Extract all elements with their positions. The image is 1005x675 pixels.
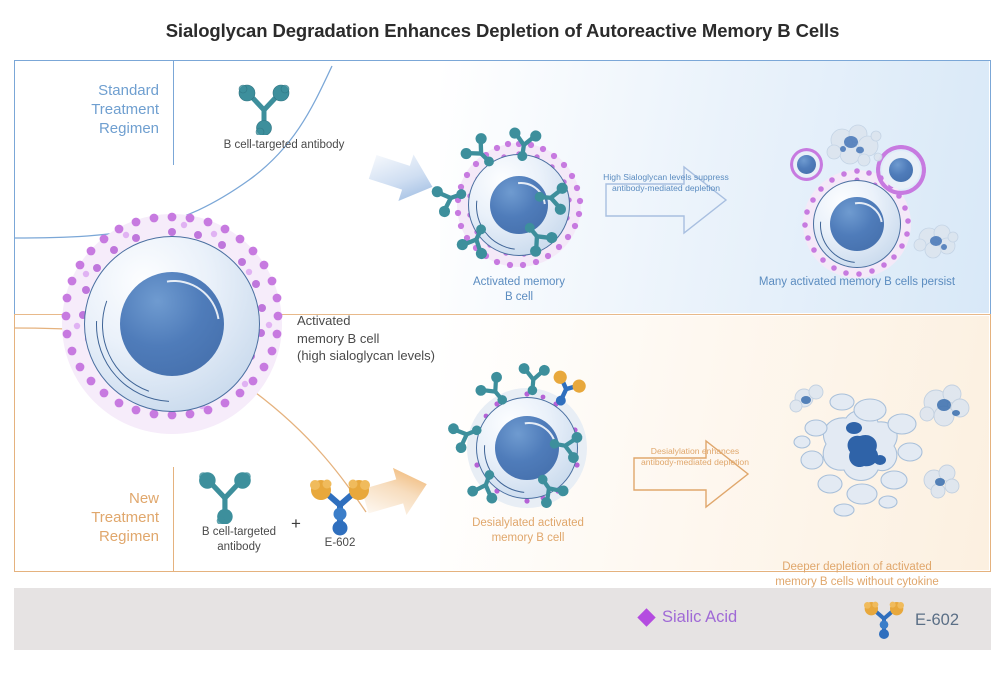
diagram-frame: Standard Treatment Regimen New Treatment… — [14, 60, 991, 572]
new-cell-caption-line2: memory B cell — [446, 531, 610, 546]
desialylated-memory-b-cell — [464, 385, 590, 511]
standard-cell-caption: Activated memory B cell — [439, 275, 599, 304]
legend-item-e602: E-602 — [862, 600, 959, 640]
standard-regimen-label: Standard Treatment Regimen — [14, 82, 159, 139]
new-cell-caption: Desialylated activated memory B cell — [446, 516, 610, 545]
plus-sign: + — [291, 514, 301, 534]
new-outcome-caption-line1: Deeper depletion of activated — [726, 560, 988, 575]
new-regimen-label: New Treatment Regimen — [14, 490, 159, 547]
new-arrow-caption: Desialylation enhances antibody-mediated… — [629, 446, 761, 469]
e-602-legend-icon — [862, 600, 906, 640]
legend-footer: Sialic Acid E-602 — [14, 588, 991, 650]
new-regimen-column-divider — [173, 467, 174, 571]
standard-arrow-caption-line1: High Sialoglycan levels suppress — [602, 172, 730, 183]
e-602-icon-bottom — [307, 478, 373, 536]
standard-cell-caption-line2: B cell — [439, 290, 599, 305]
legend-sialic-acid-label: Sialic Acid — [662, 608, 737, 627]
new-regimen-line1: New — [14, 490, 159, 509]
standard-regimen-line1: Standard — [14, 82, 159, 101]
new-regimen-line3: Regimen — [14, 528, 159, 547]
new-treatment-antibody-line2: antibody — [180, 540, 298, 555]
new-arrow-caption-line2: antibody-mediated depletion — [629, 457, 761, 468]
b-cell-targeted-antibody-icon-bottom — [196, 470, 258, 524]
standard-arrow-caption: High Sialoglycan levels suppress antibod… — [602, 172, 730, 195]
central-activated-memory-b-cell — [56, 208, 288, 440]
central-cell-caption-line3: (high sialoglycan levels) — [297, 347, 487, 365]
standard-outcome-caption: Many activated memory B cells persist — [726, 275, 988, 290]
new-cell-caption-line1: Desialylated activated — [446, 516, 610, 531]
new-arrow-caption-line1: Desialylation enhances — [629, 446, 761, 457]
new-treatment-antibody-label: B cell-targeted antibody — [180, 525, 298, 554]
persisting-b-cell-small-left — [790, 148, 823, 181]
legend-item-sialic-acid: Sialic Acid — [640, 608, 737, 627]
b-cell-targeted-antibody-icon-top — [236, 83, 296, 135]
new-regimen-line2: Treatment — [14, 509, 159, 528]
standard-treatment-label: B cell-targeted antibody — [204, 138, 364, 153]
page-title: Sialoglycan Degradation Enhances Depleti… — [0, 20, 1005, 42]
central-cell-caption: Activated memory B cell (high sialoglyca… — [297, 312, 487, 365]
standard-regimen-column-divider — [173, 61, 174, 165]
standard-arrow-caption-line2: antibody-mediated depletion — [602, 183, 730, 194]
central-cell-caption-line2: memory B cell — [297, 330, 487, 348]
standard-regimen-line2: Treatment — [14, 101, 159, 120]
new-treatment-antibody-line1: B cell-targeted — [180, 525, 298, 540]
standard-cell-caption-line1: Activated memory — [439, 275, 599, 290]
cell-debris-top-1 — [820, 122, 892, 180]
legend-e602-label: E-602 — [915, 611, 959, 630]
sialic-acid-diamond-icon — [637, 608, 655, 626]
depleted-cell-debris-cluster — [784, 372, 984, 537]
activated-memory-b-cell-top — [452, 138, 586, 272]
standard-regimen-line3: Regimen — [14, 120, 159, 139]
central-cell-caption-line1: Activated — [297, 312, 487, 330]
cell-debris-top-2 — [909, 218, 965, 266]
new-treatment-e602-label: E-602 — [303, 536, 377, 551]
